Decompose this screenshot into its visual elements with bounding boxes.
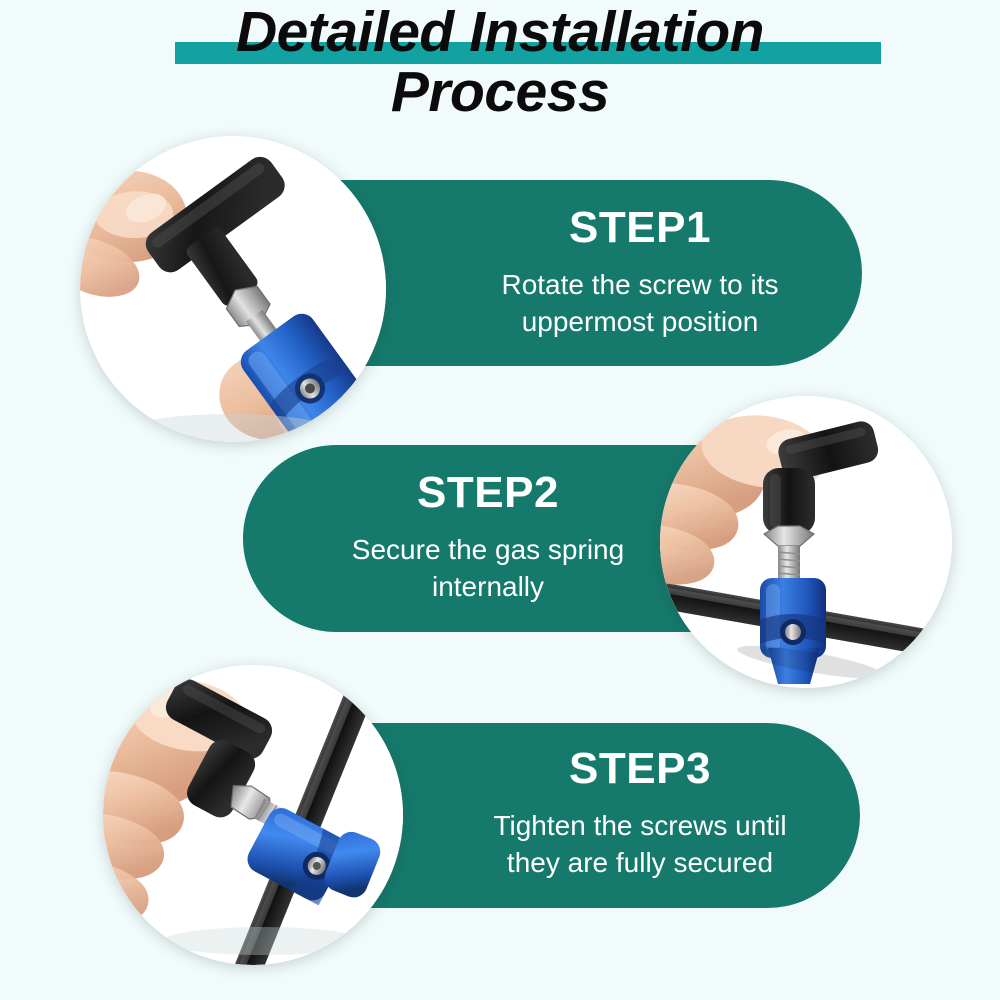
step-1-photo xyxy=(80,136,386,442)
threaded-screw xyxy=(778,546,800,582)
step-2-label: STEP2 xyxy=(278,467,698,519)
step-3-text-block: STEP3 Tighten the screws until they are … xyxy=(430,743,850,881)
step-1-text-block: STEP1 Rotate the screw to its uppermost … xyxy=(430,202,850,340)
step-3-label: STEP3 xyxy=(430,743,850,795)
photo-3-illustration xyxy=(103,665,403,965)
title-line-1: Detailed Installation xyxy=(0,2,1000,62)
step-3-desc-line-2: they are fully secured xyxy=(430,844,850,881)
step-1-description: Rotate the screw to its uppermost positi… xyxy=(430,266,850,340)
photo-2-illustration xyxy=(660,396,952,688)
step-3-photo xyxy=(103,665,403,965)
step-2-text-block: STEP2 Secure the gas spring internally xyxy=(278,467,698,605)
step-2-desc-line-1: Secure the gas spring xyxy=(278,531,698,568)
step-2-description: Secure the gas spring internally xyxy=(278,531,698,605)
step-2-photo xyxy=(660,396,952,688)
step-3-description: Tighten the screws until they are fully … xyxy=(430,807,850,881)
step-1-desc-line-2: uppermost position xyxy=(430,303,850,340)
step-1-desc-line-1: Rotate the screw to its xyxy=(430,266,850,303)
page-title: Detailed Installation Process xyxy=(0,0,1000,130)
title-line-2: Process xyxy=(0,62,1000,122)
infographic-canvas: Detailed Installation Process STEP1 Rota… xyxy=(0,0,1000,1000)
step-2-desc-line-2: internally xyxy=(278,568,698,605)
step-3-desc-line-1: Tighten the screws until xyxy=(430,807,850,844)
step-1-label: STEP1 xyxy=(430,202,850,254)
photo-1-illustration xyxy=(80,136,386,442)
